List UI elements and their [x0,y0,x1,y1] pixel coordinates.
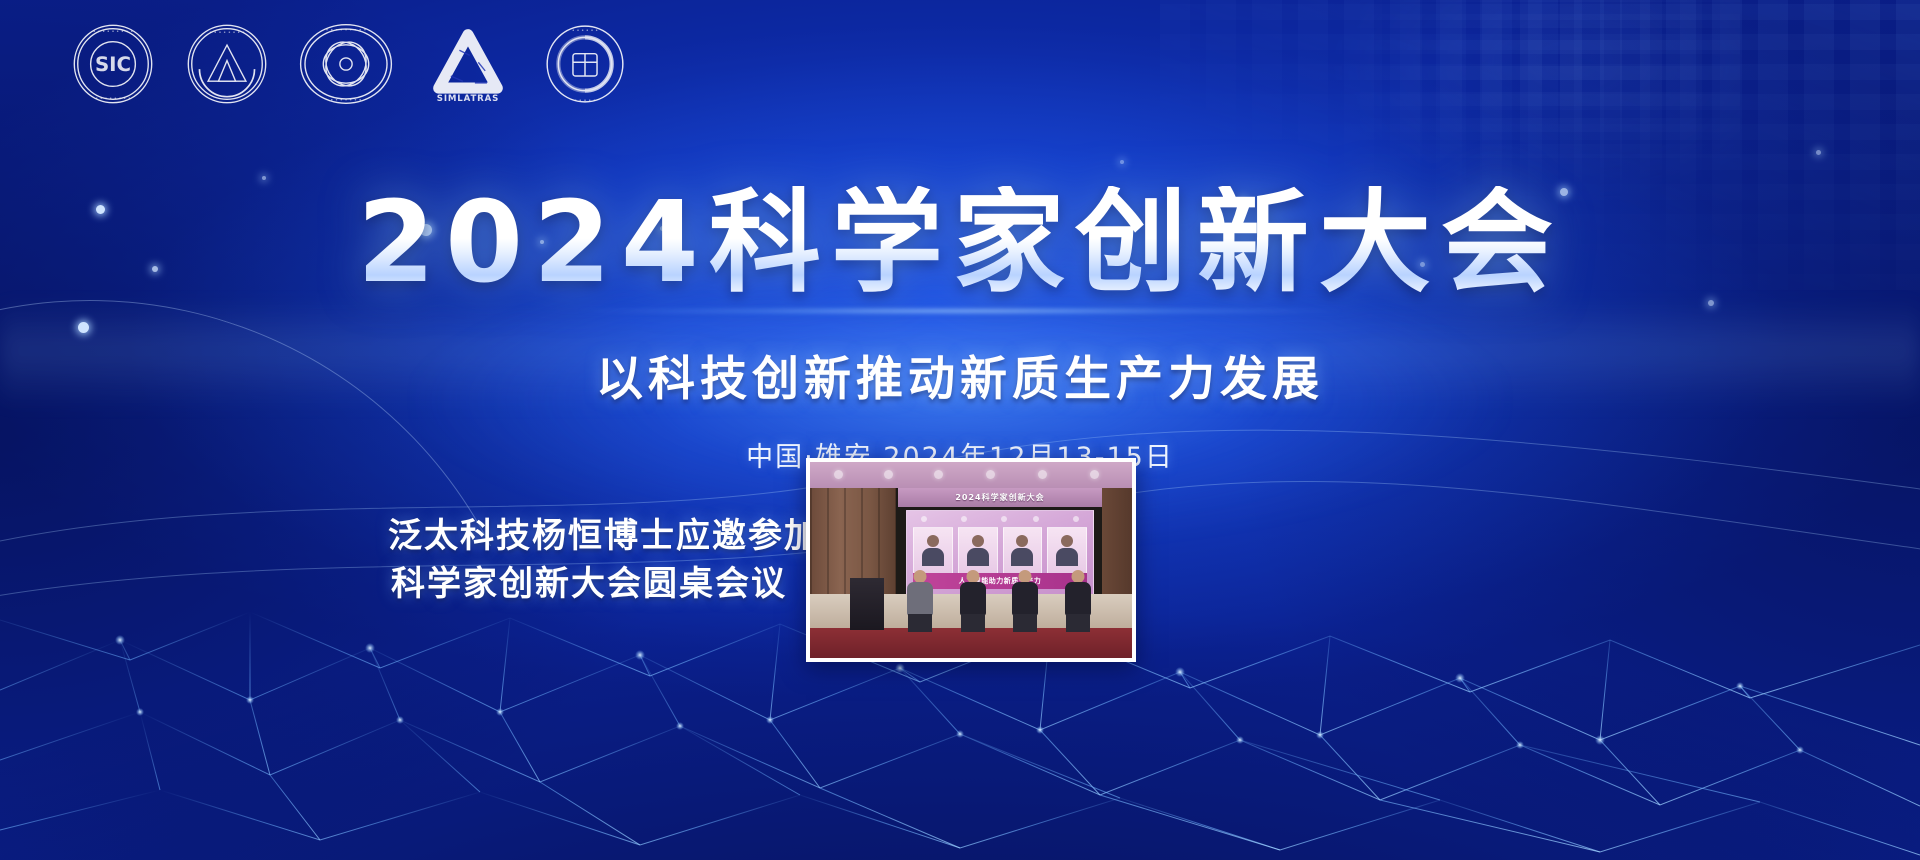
caption-line-2: 科学家创新大会圆桌会议 [388,560,790,608]
svg-text:• • • • • • • •: • • • • • • • • [95,96,131,102]
page-title: 2024科学家创新大会 [0,186,1920,300]
panelist [904,570,936,632]
page-subtitle: 以科技创新推动新质生产力发展 [0,340,1920,409]
title-underglow [580,308,1340,314]
svg-text:SIMLATRAS: SIMLATRAS [437,94,499,104]
panelist [957,570,989,632]
svg-text:• • • • • • • •: • • • • • • • • [209,30,245,36]
logo-triangle-mark: SIMLATRAS [422,21,514,107]
logo-atom-seal: • • • • • • • • • • • • • • • • [298,20,394,108]
svg-text:• • • • •: • • • • • [574,98,596,104]
panelist [1009,570,1041,632]
photo-stage-header: 2024科学家创新大会 [898,488,1102,507]
photo-stage-header-text: 2024科学家创新大会 [955,492,1044,503]
svg-text:• • • • • • •: • • • • • • • [330,98,362,104]
caption-line-1: 泛太科技杨恒博士应邀参加 [388,512,790,560]
photo-podium [850,578,884,630]
svg-text:• • • • • • • • •: • • • • • • • • • [326,28,367,34]
photo-carpet [810,628,1132,658]
logo-sic-seal: SIC • • • • • • • • • • • • • • • • • [70,21,156,107]
event-photo: 2024科学家创新大会 人工智能助力新质生产力 [806,458,1136,662]
logo-triangle-seal: • • • • • • • • [184,21,270,107]
event-caption: 泛太科技杨恒博士应邀参加 科学家创新大会圆桌会议 [388,512,790,609]
title-block: 2024科学家创新大会 以科技创新推动新质生产力发展 中国·雄安 2024年12… [0,186,1920,474]
photo-panelists [894,566,1104,632]
partner-logo-row: SIC • • • • • • • • • • • • • • • • • • … [70,20,628,108]
photo-ceiling [810,462,1132,488]
banner-canvas: SIC • • • • • • • • • • • • • • • • • • … [0,0,1920,860]
panelist [1062,570,1094,632]
logo-circular-emblem: • • • • • • • • • • • [542,21,628,107]
svg-text:• • • • • •: • • • • • • [572,28,598,34]
svg-text:• • • • • • • • •: • • • • • • • • • [93,29,134,35]
svg-text:SIC: SIC [95,53,131,76]
